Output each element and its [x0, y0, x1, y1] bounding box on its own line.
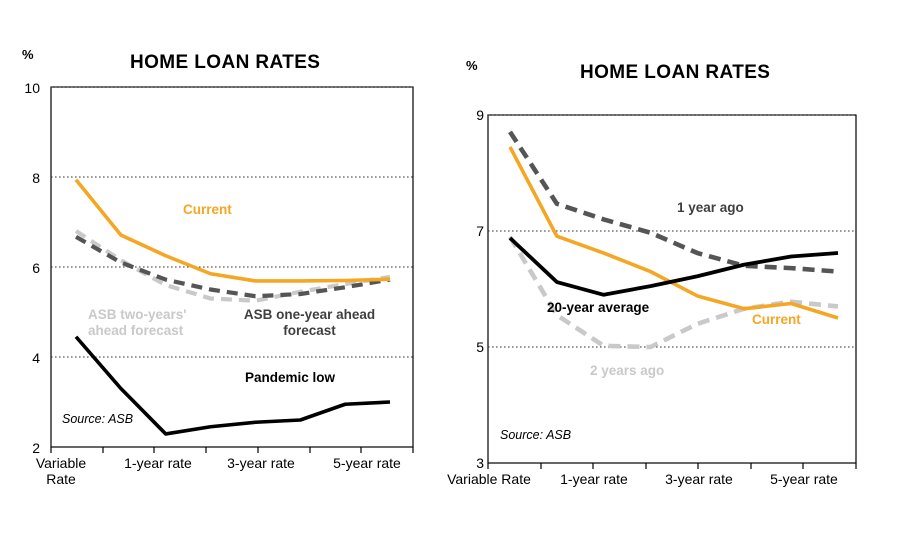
- left-chart-panel: % HOME LOAN RATES 10 8 6 4 2: [0, 0, 452, 545]
- figure-root: % HOME LOAN RATES 10 8 6 4 2: [0, 0, 904, 545]
- left-xtick-1-year: 1-year rate: [113, 455, 203, 471]
- right-plot-svg: [452, 0, 904, 545]
- left-xtick-5-year: 5-year rate: [322, 455, 412, 471]
- left-annotation-one-year-ahead: ASB one-year ahead forecast: [222, 307, 397, 338]
- right-annotation-current: Current: [752, 312, 801, 328]
- left-xtick-3-year: 3-year rate: [216, 455, 306, 471]
- right-chart-panel: % HOME LOAN RATES 9 7 5 3: [452, 0, 904, 545]
- left-series-current: [76, 180, 390, 281]
- left-source-note: Source: ASB: [62, 412, 133, 426]
- right-annotation-2-years-ago: 2 years ago: [590, 363, 664, 379]
- left-series-asb-two-years-ahead: [76, 231, 390, 301]
- right-xtick-5-year: 5-year rate: [760, 471, 848, 487]
- left-annotation-two-years-ahead: ASB two-years' ahead forecast: [88, 307, 208, 338]
- right-series-current: [510, 147, 838, 318]
- right-annotation-20-year-average: 20-year average: [547, 300, 649, 316]
- left-xtick-variable-rate: Variable Rate: [26, 455, 96, 487]
- right-xtick-marks: [488, 463, 856, 469]
- left-annotation-pandemic-low: Pandemic low: [245, 370, 335, 386]
- right-series-1-year-ago: [510, 132, 838, 272]
- left-annotation-current: Current: [183, 202, 232, 218]
- right-xtick-variable-rate: Variable Rate: [446, 471, 532, 487]
- left-xtick-marks: [51, 447, 413, 453]
- right-xtick-3-year: 3-year rate: [655, 471, 743, 487]
- right-source-note: Source: ASB: [500, 428, 571, 442]
- right-xtick-1-year: 1-year rate: [550, 471, 638, 487]
- right-series-2-years-ago: [510, 237, 838, 347]
- right-annotation-1-year-ago: 1 year ago: [677, 200, 744, 216]
